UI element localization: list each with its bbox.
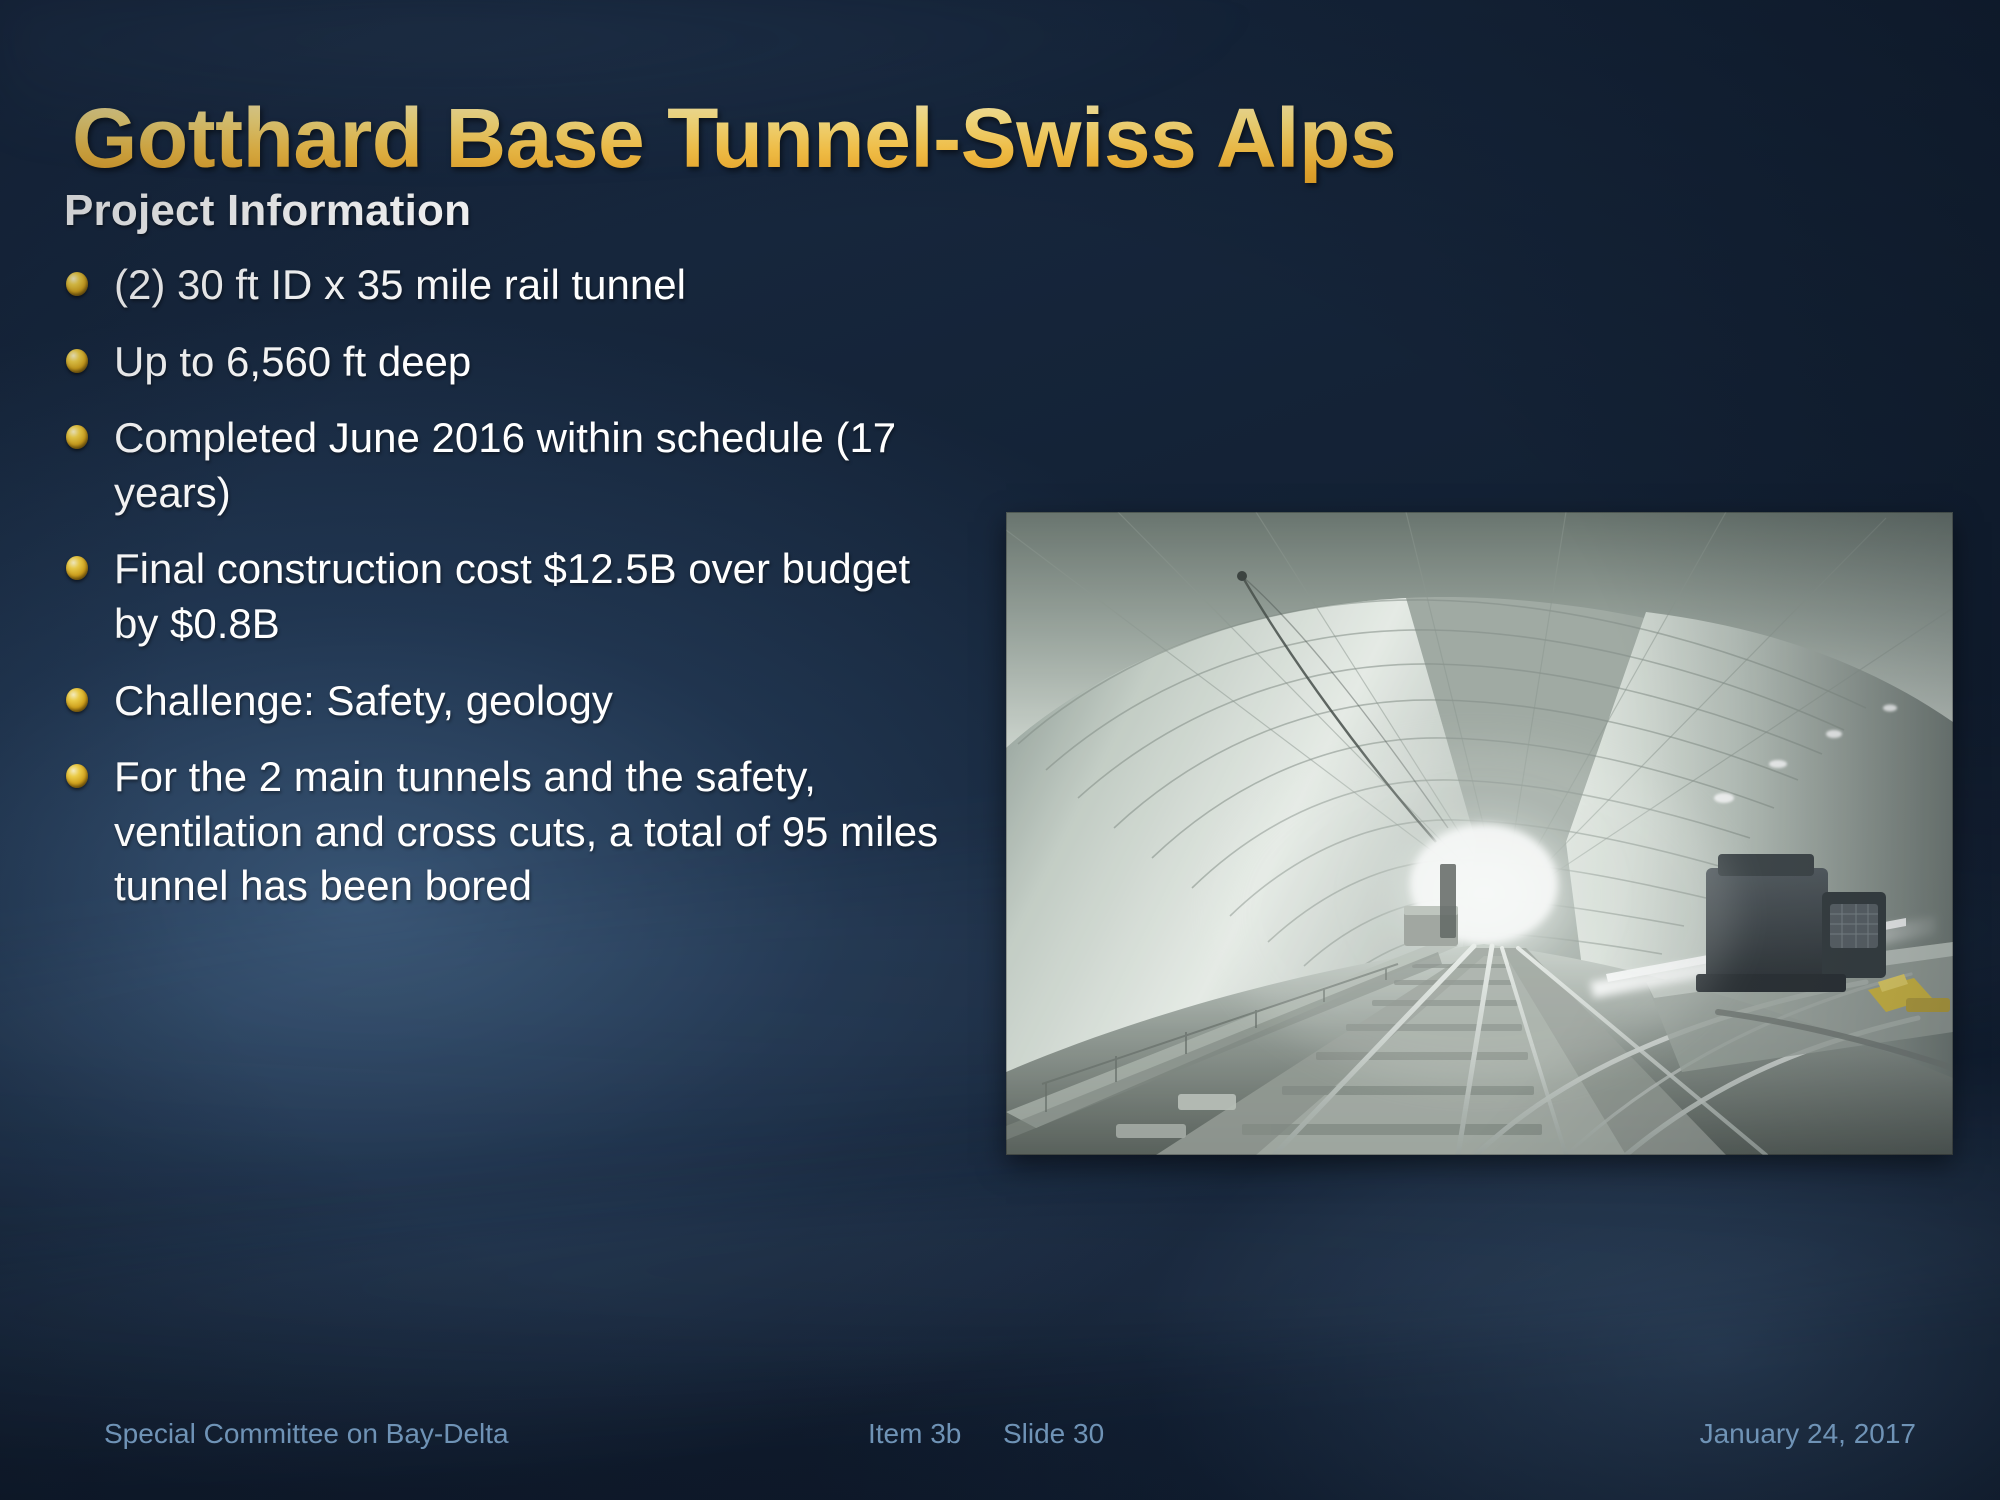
bullet-dot-icon <box>66 349 88 373</box>
list-item: (2) 30 ft ID x 35 mile rail tunnel <box>64 258 964 313</box>
list-item: Up to 6,560 ft deep <box>64 335 964 390</box>
list-item-label: For the 2 main tunnels and the safety, v… <box>114 753 938 909</box>
section-subheading: Project Information <box>64 186 964 236</box>
list-item: Final construction cost $12.5B over budg… <box>64 542 964 651</box>
footer-slide-number: Slide 30 <box>1003 1418 1104 1449</box>
bullet-dot-icon <box>66 688 88 712</box>
bullet-dot-icon <box>66 556 88 580</box>
footer-date: January 24, 2017 <box>1700 1418 1916 1450</box>
content-body: Project Information (2) 30 ft ID x 35 mi… <box>64 186 964 936</box>
list-item: For the 2 main tunnels and the safety, v… <box>64 750 964 914</box>
list-item-label: Challenge: Safety, geology <box>114 677 613 724</box>
slide-footer: Special Committee on Bay-Delta Item 3b S… <box>0 1418 2000 1458</box>
list-item-label: Final construction cost $12.5B over budg… <box>114 545 910 647</box>
bullet-dot-icon <box>66 272 88 296</box>
presentation-slide: Gotthard Base Tunnel-Swiss Alps Project … <box>0 0 2000 1500</box>
list-item-label: (2) 30 ft ID x 35 mile rail tunnel <box>114 261 686 308</box>
bullet-list: (2) 30 ft ID x 35 mile rail tunnel Up to… <box>64 258 964 914</box>
tunnel-photo <box>1006 512 1953 1155</box>
list-item-label: Completed June 2016 within schedule (17 … <box>114 414 896 516</box>
bullet-dot-icon <box>66 425 88 449</box>
list-item-label: Up to 6,560 ft deep <box>114 338 471 385</box>
footer-item-number: Item 3b <box>868 1418 961 1449</box>
list-item: Completed June 2016 within schedule (17 … <box>64 411 964 520</box>
bullet-dot-icon <box>66 764 88 788</box>
slide-title: Gotthard Base Tunnel-Swiss Alps <box>72 94 1672 183</box>
list-item: Challenge: Safety, geology <box>64 674 964 729</box>
footer-committee: Special Committee on Bay-Delta <box>104 1418 509 1450</box>
footer-item-slide: Item 3b Slide 30 <box>868 1418 1104 1450</box>
